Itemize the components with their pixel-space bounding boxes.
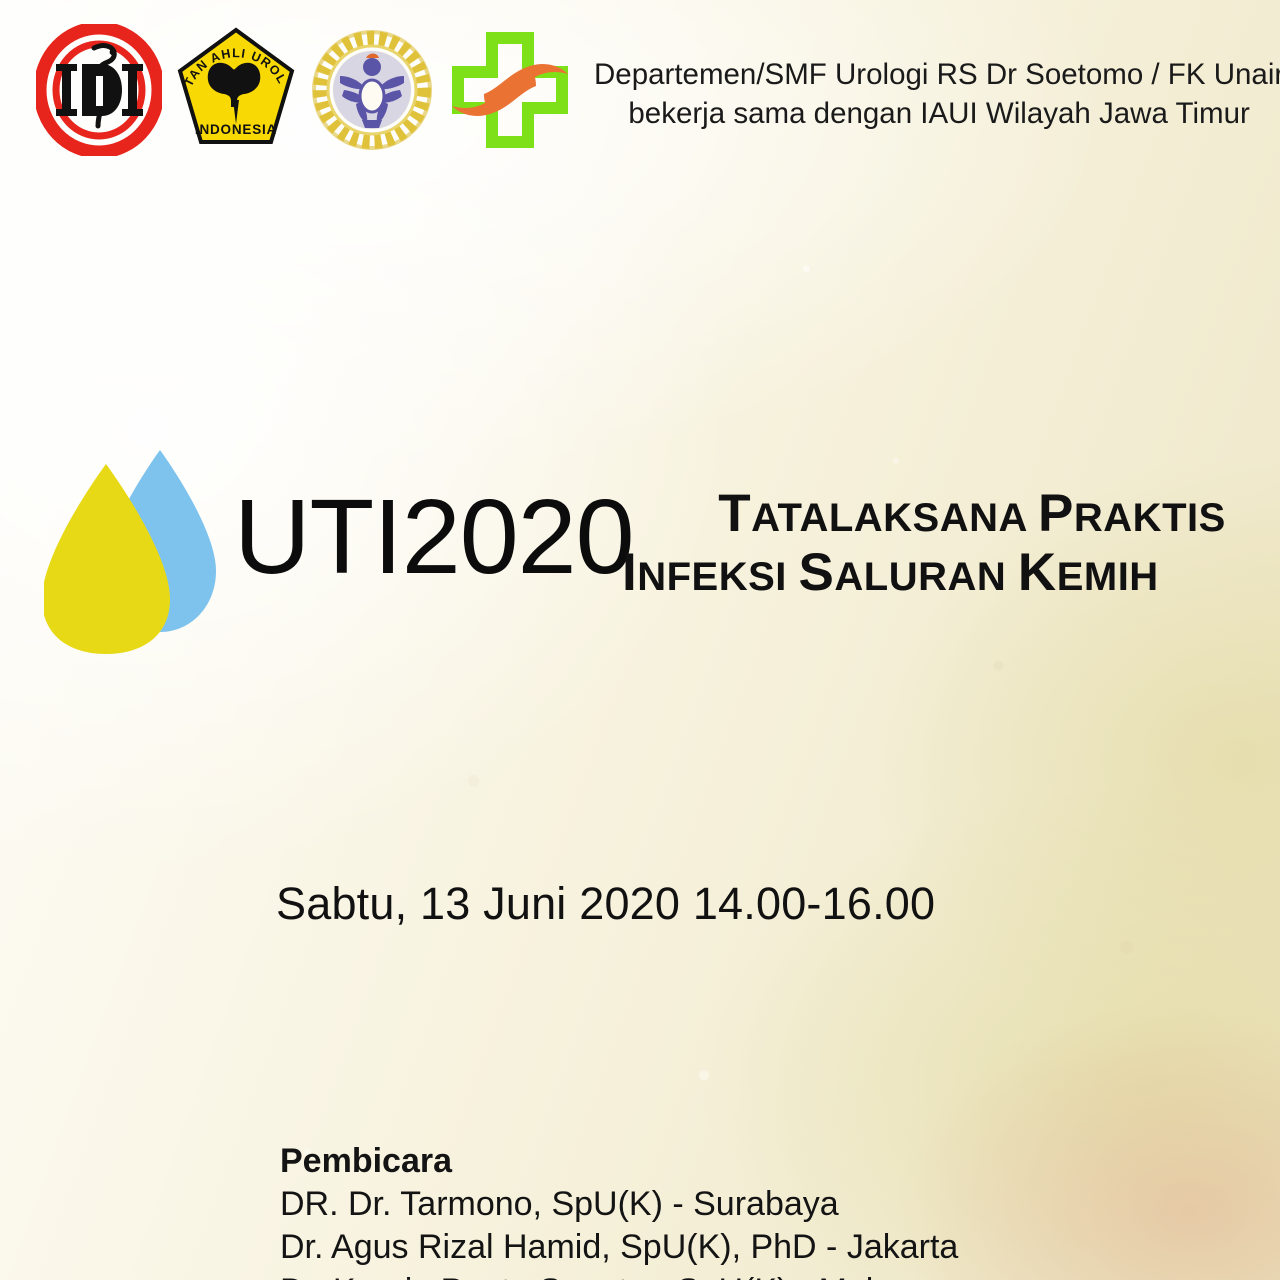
rs-soetomo-logo	[448, 28, 572, 157]
unair-logo	[310, 24, 434, 161]
speakers-heading: Pembicara	[280, 1140, 1280, 1183]
organizer-line-1: Departemen/SMF Urologi RS Dr Soetomo / F…	[594, 58, 1280, 91]
event-title-line-2: INFEKSI SALURAN KEMIH	[622, 545, 1280, 600]
person-line: Dr. Kurnia Penta Seputra, SpU(K) - Malan…	[280, 1270, 1280, 1280]
logo-strip: IKATAN AHLI UROLOGI INDONESIA	[36, 24, 572, 161]
speakers-list: DR. Dr. Tarmono, SpU(K) - SurabayaDr. Ag…	[280, 1183, 1280, 1280]
organizer-text: Departemen/SMF Urologi RS Dr Soetomo / F…	[594, 56, 1280, 134]
organizer-line-2: bekerja sama dengan IAUI Wilayah Jawa Ti…	[594, 95, 1280, 134]
idi-logo	[36, 24, 162, 161]
people-section: Pembicara DR. Dr. Tarmono, SpU(K) - Sura…	[280, 1140, 1280, 1280]
event-title-line-1: TATALAKSANA PRAKTIS	[622, 486, 1280, 541]
iaui-logo: IKATAN AHLI UROLOGI INDONESIA	[176, 24, 296, 161]
hero-section: UTI2020 TATALAKSANA PRAKTIS INFEKSI SALU…	[44, 436, 1268, 666]
svg-text:INDONESIA: INDONESIA	[195, 122, 277, 137]
person-line: Dr. Agus Rizal Hamid, SpU(K), PhD - Jaka…	[280, 1226, 1280, 1269]
poster-canvas: IKATAN AHLI UROLOGI INDONESIA	[0, 0, 1280, 1280]
water-drop-logo	[44, 440, 224, 660]
event-title: TATALAKSANA PRAKTIS INFEKSI SALURAN KEMI…	[622, 486, 1280, 600]
person-line: DR. Dr. Tarmono, SpU(K) - Surabaya	[280, 1183, 1280, 1226]
event-brand: UTI2020	[234, 484, 634, 590]
event-datetime: Sabtu, 13 Juni 2020 14.00-16.00	[276, 878, 1280, 930]
poster-header: IKATAN AHLI UROLOGI INDONESIA	[36, 24, 1280, 164]
